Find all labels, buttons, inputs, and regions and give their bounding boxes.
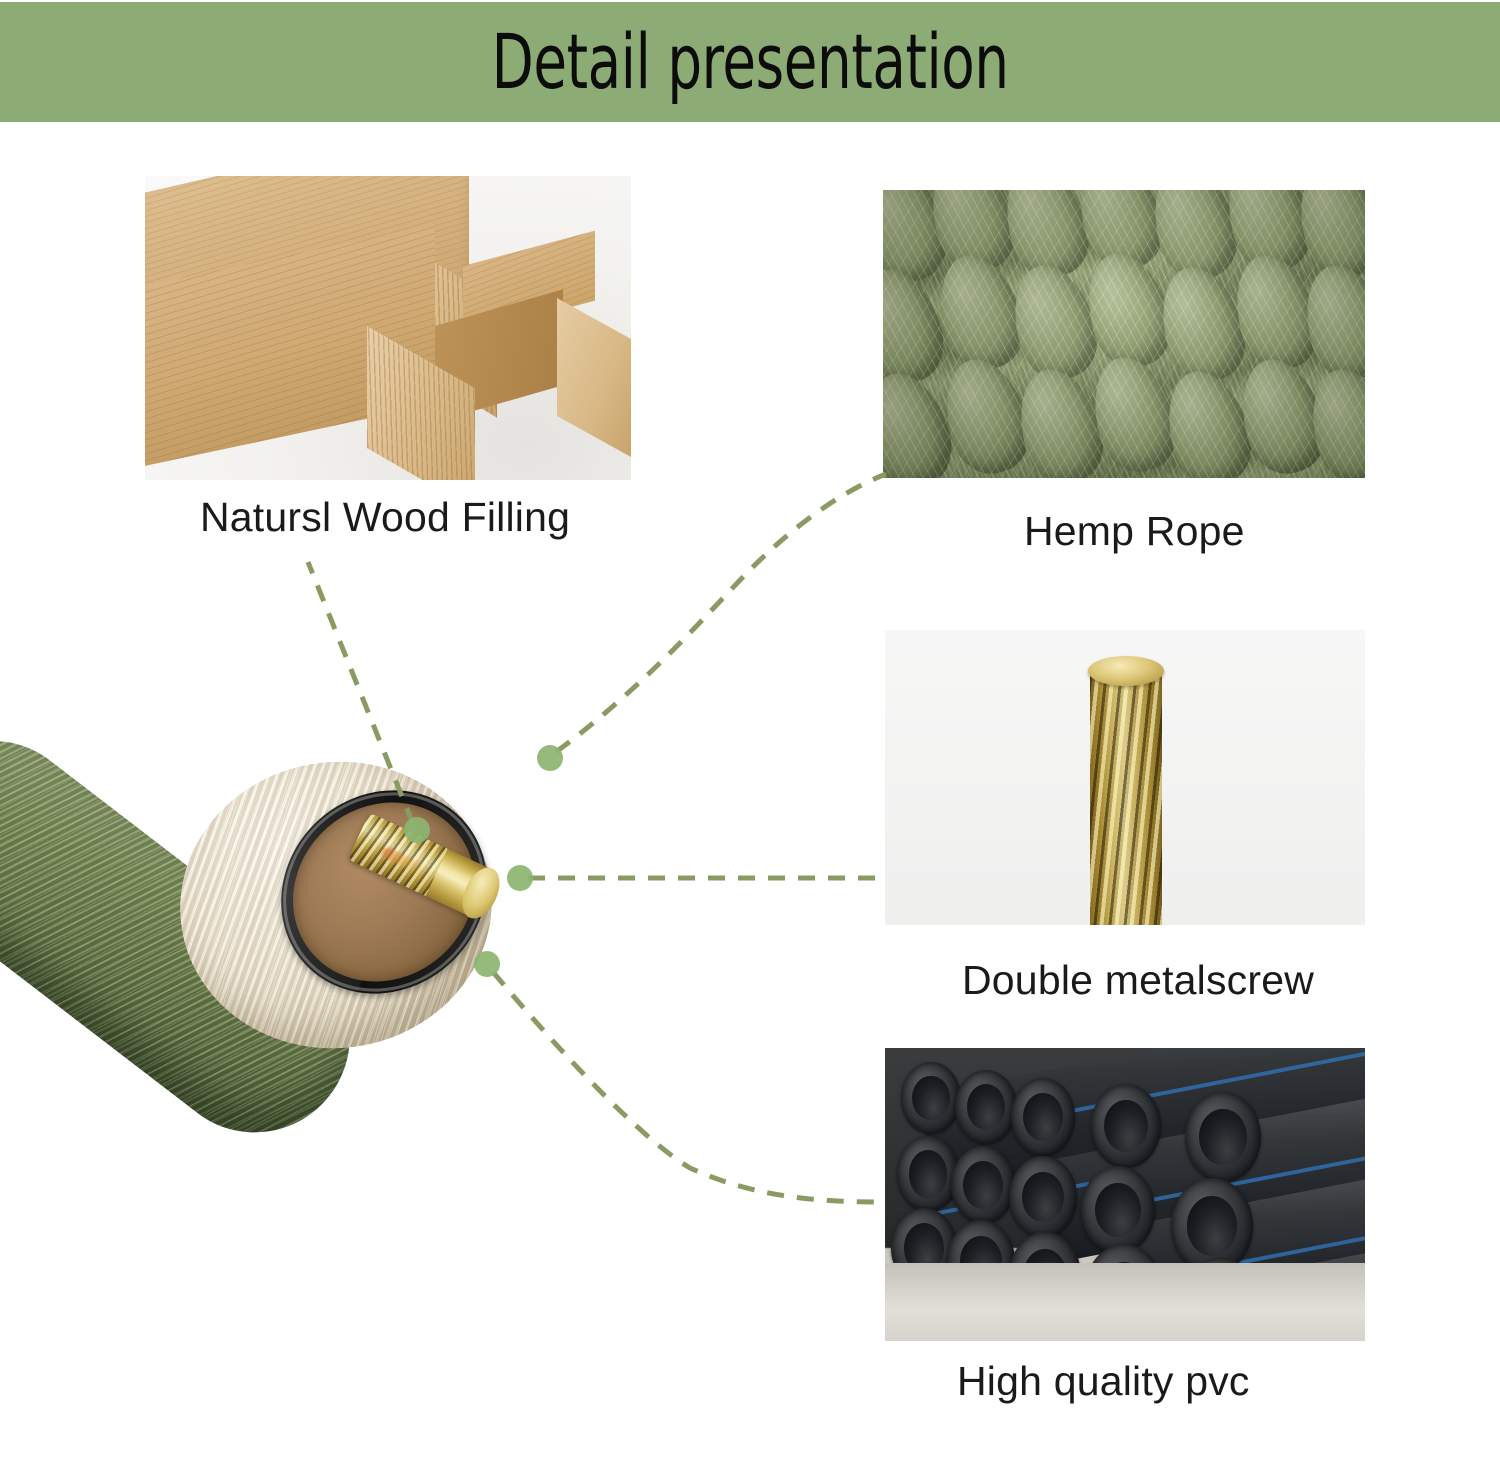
wood-beams-photo xyxy=(145,176,631,480)
pipe-opening xyxy=(1011,1078,1075,1156)
pipe-opening xyxy=(1081,1166,1155,1254)
pipe-opening xyxy=(1009,1156,1077,1238)
hemp-rope-photo xyxy=(883,190,1365,478)
caption-double-metalscrew: Double metalscrew xyxy=(962,957,1314,1004)
pipe-opening xyxy=(951,1146,1015,1224)
photo-vignette xyxy=(883,190,1365,478)
caption-wood-filling: Natursl Wood Filling xyxy=(200,494,570,541)
pvc-pipes-photo xyxy=(885,1048,1365,1341)
pipe-opening xyxy=(955,1070,1017,1144)
screw-top-face xyxy=(1088,656,1164,686)
warehouse-floor xyxy=(885,1263,1365,1341)
page-title: Detail presentation xyxy=(491,24,1008,100)
pipe-opening xyxy=(1185,1092,1261,1182)
cat-scratching-post-closeup xyxy=(0,700,640,1462)
detail-presentation-page: Detail presentation xyxy=(0,0,1500,1462)
caption-hemp-rope: Hemp Rope xyxy=(1024,508,1245,555)
screw-threaded-rod xyxy=(1090,670,1162,925)
pipe-opening xyxy=(901,1062,961,1134)
pipe-opening xyxy=(1091,1084,1161,1168)
pipe-opening xyxy=(897,1136,959,1212)
metal-screw-photo xyxy=(885,630,1365,925)
header-banner: Detail presentation xyxy=(0,2,1500,122)
caption-high-quality-pvc: High quality pvc xyxy=(957,1358,1250,1405)
screw-thread-texture xyxy=(1090,670,1162,925)
